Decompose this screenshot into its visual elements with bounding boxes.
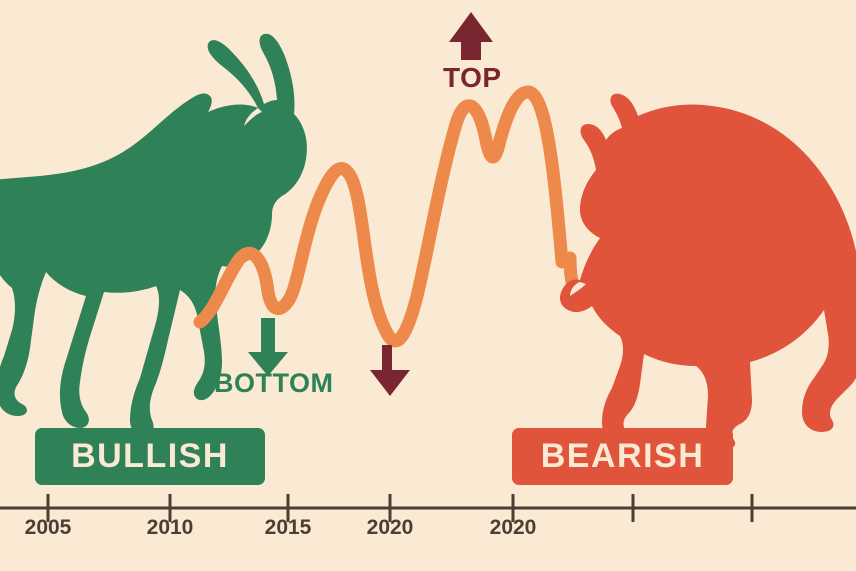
axis-year-label: 2010 [147, 516, 194, 540]
bottom-annotation-label: BOTTOM [214, 368, 334, 399]
bullish-banner-label: BULLISH [35, 428, 265, 485]
bearish-banner-label: BEARISH [512, 428, 733, 485]
top-annotation-label: TOP [443, 62, 502, 94]
axis-year-label: 2015 [265, 516, 312, 540]
axis-year-label: 2005 [25, 516, 72, 540]
infographic-canvas: BULLISH BEARISH TOP BOTTOM 2005 2010 201… [0, 0, 856, 571]
infographic-artwork [0, 0, 856, 571]
axis-year-label: 2020 [490, 516, 537, 540]
axis-year-label: 2020 [367, 516, 414, 540]
